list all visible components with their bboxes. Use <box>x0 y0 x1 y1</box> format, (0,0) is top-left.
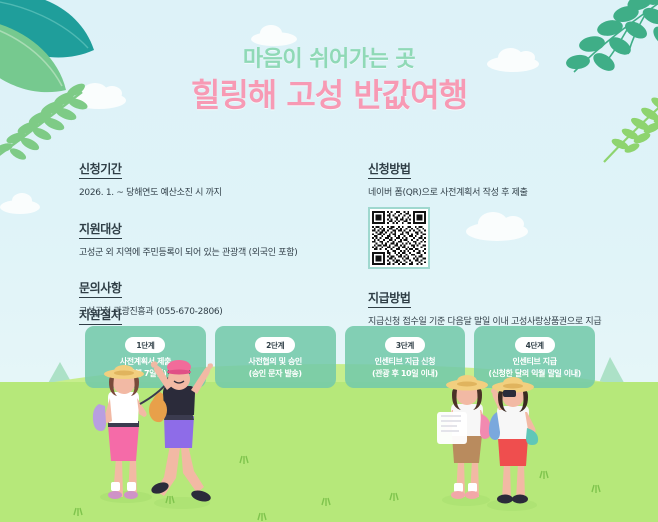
step-subtitle: (여행 7일전) <box>124 369 166 379</box>
headline-title: 힐링해 고성 반값여행 <box>0 77 658 114</box>
qr-code-image <box>372 211 426 265</box>
step-title: 인센티브 지급 <box>513 357 557 367</box>
step-card-4[interactable]: 4단계 인센티브 지급 (신청한 달의 익월 말일 이내) <box>474 326 595 388</box>
field-application-period: 신청기간 2026. 1. ~ 당해연도 예산소진 시 까지 <box>79 158 359 200</box>
procedure-steps: 1단계 사전계획서 제출 (여행 7일전) 2단계 사전협의 및 승인 (승인 … <box>85 326 595 388</box>
step-card-3[interactable]: 3단계 인센티브 지급 신청 (관광 후 10일 이내) <box>345 326 466 388</box>
step-subtitle: (관광 후 10일 이내) <box>372 369 438 379</box>
field-value: 네이버 폼(QR)으로 사전계획서 작성 후 제출 <box>368 187 643 200</box>
field-label: 신청기간 <box>79 160 122 179</box>
headline-subtitle: 마음이 쉬어가는 곳 <box>0 48 658 72</box>
field-label: 지급방법 <box>368 289 411 308</box>
poster-canvas: 마음이 쉬어가는 곳 힐링해 고성 반값여행 신청기간 2026. 1. ~ 당… <box>0 0 658 522</box>
step-title: 인센티브 지급 신청 <box>375 357 435 367</box>
cloud-icon <box>0 200 40 214</box>
procedure-label-wrap: 지원절차 <box>79 304 122 325</box>
step-subtitle: (신청한 달의 익월 말일 이내) <box>488 369 581 379</box>
cloud-icon <box>251 32 297 46</box>
step-card-1[interactable]: 1단계 사전계획서 제출 (여행 7일전) <box>85 326 206 388</box>
field-eligibility: 지원대상 고성군 외 지역에 주민등록이 되어 있는 관광객 (외국인 포함) <box>79 218 359 260</box>
step-title: 사전협의 및 승인 <box>248 357 302 367</box>
step-badge: 4단계 <box>515 337 555 353</box>
qr-code[interactable] <box>368 207 430 269</box>
step-card-2[interactable]: 2단계 사전협의 및 승인 (승인 문자 발송) <box>215 326 336 388</box>
field-label: 문의사항 <box>79 279 122 298</box>
step-badge: 2단계 <box>255 337 295 353</box>
step-title: 사전계획서 제출 <box>120 357 171 367</box>
field-label: 신청방법 <box>368 160 411 179</box>
step-badge: 3단계 <box>385 337 425 353</box>
info-column-right: 신청방법 네이버 폼(QR)으로 사전계획서 작성 후 제출 <box>368 158 643 346</box>
field-how-to-apply: 신청방법 네이버 폼(QR)으로 사전계획서 작성 후 제출 <box>368 158 643 269</box>
field-value: 2026. 1. ~ 당해연도 예산소진 시 까지 <box>79 187 359 200</box>
step-subtitle: (승인 문자 발송) <box>249 369 302 379</box>
field-payment-method: 지급방법 지급신청 접수일 기준 다음달 말일 이내 고성사랑상품권으로 지급 <box>368 287 643 329</box>
step-badge: 1단계 <box>125 337 165 353</box>
field-label: 지원대상 <box>79 220 122 239</box>
procedure-label: 지원절차 <box>79 306 122 325</box>
field-value: 고성군 외 지역에 주민등록이 되어 있는 관광객 (외국인 포함) <box>79 247 359 260</box>
headline-block: 마음이 쉬어가는 곳 힐링해 고성 반값여행 <box>0 48 658 114</box>
grass-field <box>0 382 658 522</box>
